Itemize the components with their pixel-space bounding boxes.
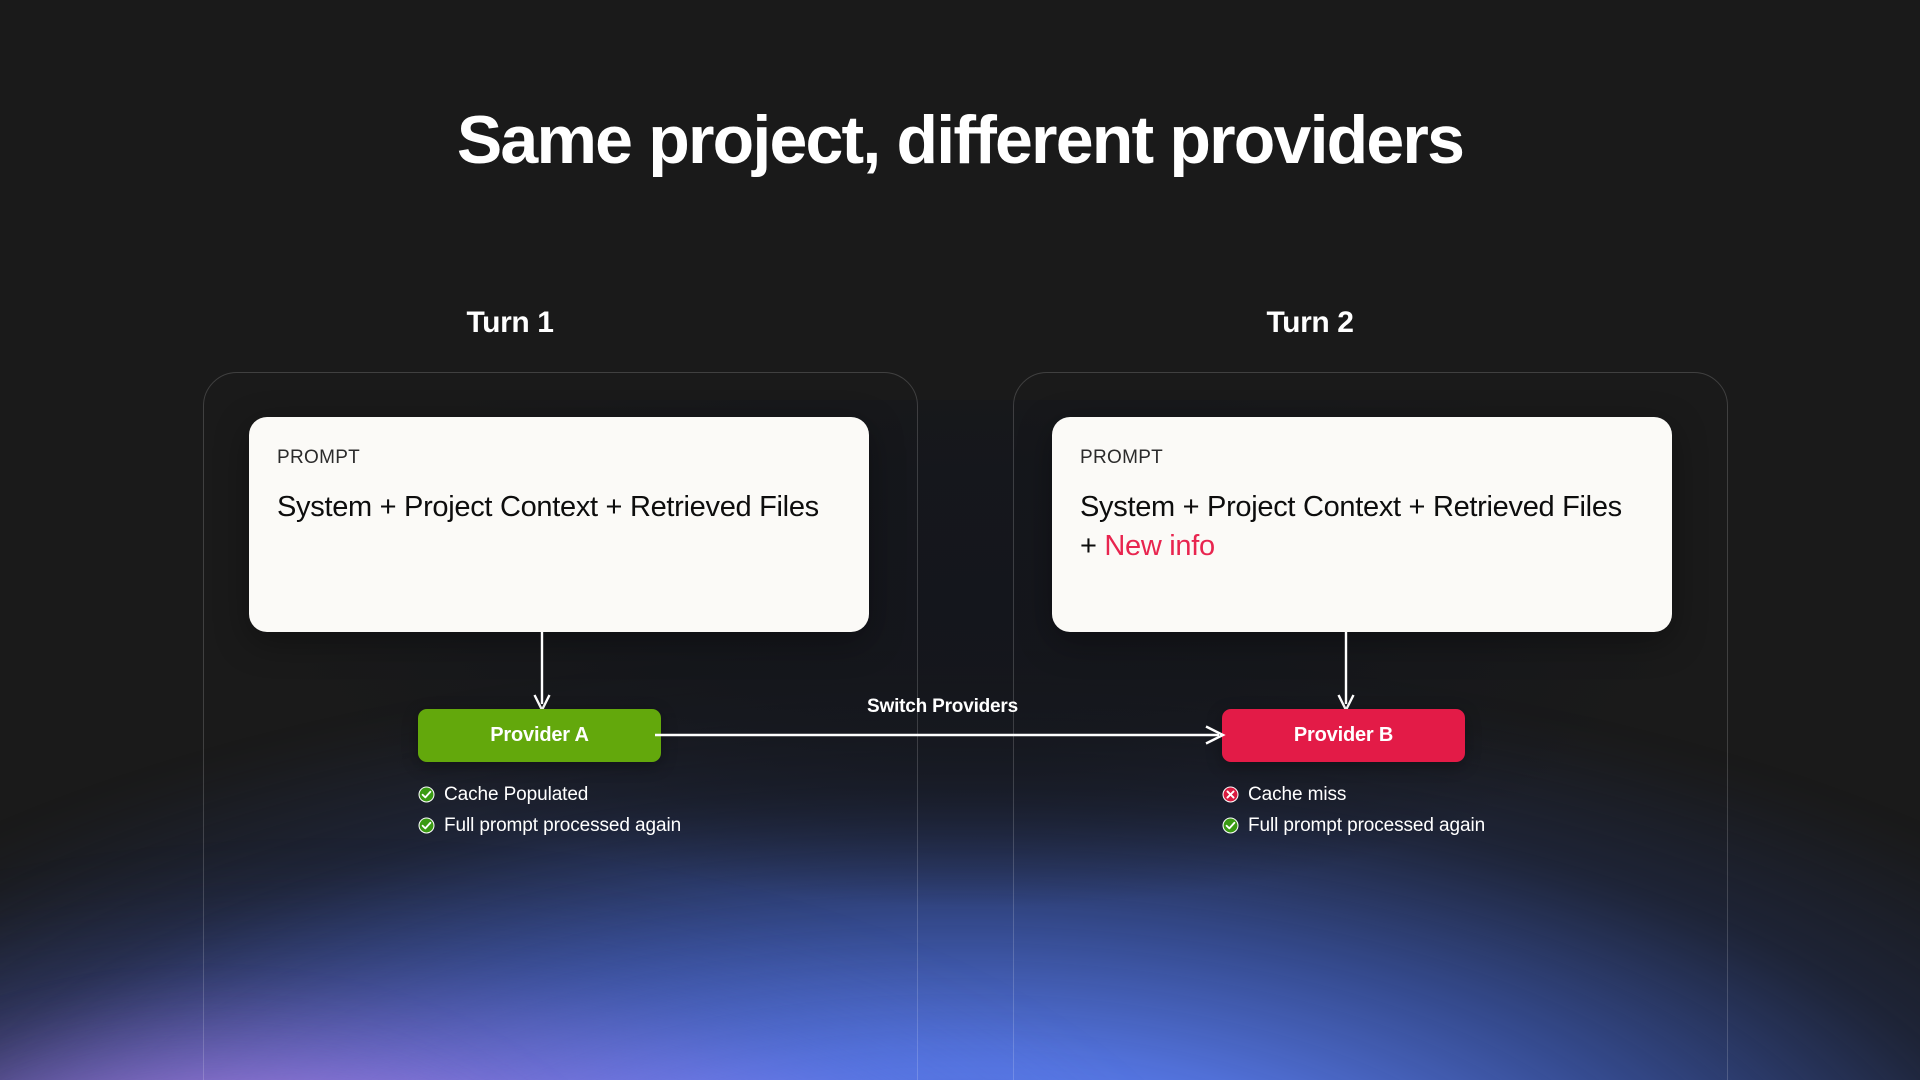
- status-label: Cache Populated: [444, 783, 588, 807]
- provider-a-label: Provider A: [490, 724, 588, 747]
- status-label: Cache miss: [1248, 783, 1346, 807]
- prompt-kicker-2: PROMPT: [1080, 447, 1644, 469]
- status-item: Cache miss: [1222, 783, 1485, 807]
- provider-a-pill[interactable]: Provider A: [418, 709, 661, 762]
- turn-label-2: Turn 2: [1110, 306, 1510, 340]
- check-circle-icon: [418, 817, 435, 834]
- slide-canvas: Same project, different providers Turn 1…: [0, 0, 1920, 1080]
- switch-providers-label: Switch Providers: [655, 696, 1230, 718]
- page-title: Same project, different providers: [0, 106, 1920, 174]
- status-item: Full prompt processed again: [418, 814, 681, 838]
- provider-b-pill[interactable]: Provider B: [1222, 709, 1465, 762]
- prompt-body-accent-2: New info: [1104, 530, 1214, 562]
- status-list-turn-2: Cache miss Full prompt processed again: [1222, 783, 1485, 838]
- prompt-body-text-1: System + Project Context + Retrieved Fil…: [277, 491, 819, 523]
- status-item: Cache Populated: [418, 783, 681, 807]
- status-label: Full prompt processed again: [444, 814, 681, 838]
- check-circle-icon: [1222, 817, 1239, 834]
- status-item: Full prompt processed again: [1222, 814, 1485, 838]
- status-label: Full prompt processed again: [1248, 814, 1485, 838]
- prompt-card-1: PROMPT System + Project Context + Retrie…: [249, 417, 869, 632]
- prompt-body-2: System + Project Context + Retrieved Fil…: [1080, 488, 1644, 567]
- down-arrow-icon-2: [1335, 632, 1357, 714]
- status-list-turn-1: Cache Populated Full prompt processed ag…: [418, 783, 681, 838]
- down-arrow-icon-1: [531, 632, 553, 714]
- prompt-kicker-1: PROMPT: [277, 447, 841, 469]
- provider-b-label: Provider B: [1294, 724, 1393, 747]
- turn-label-1: Turn 1: [310, 306, 710, 340]
- x-circle-icon: [1222, 786, 1239, 803]
- prompt-body-1: System + Project Context + Retrieved Fil…: [277, 488, 841, 527]
- check-circle-icon: [418, 786, 435, 803]
- prompt-card-2: PROMPT System + Project Context + Retrie…: [1052, 417, 1672, 632]
